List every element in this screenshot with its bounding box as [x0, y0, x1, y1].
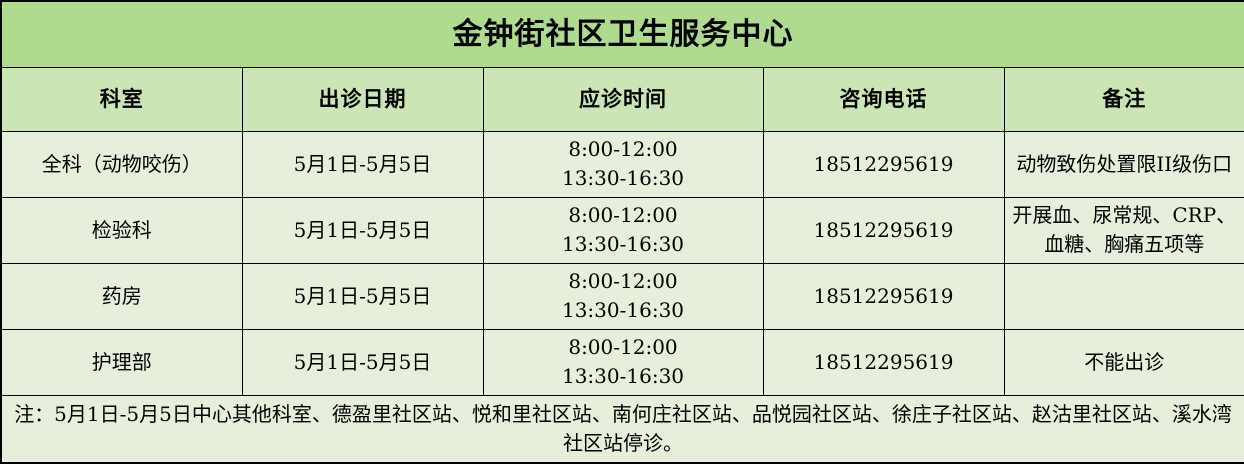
cell-time-afternoon: 13:30-16:30	[489, 230, 758, 259]
cell-time-afternoon: 13:30-16:30	[489, 362, 758, 391]
column-header-note: 备注	[1004, 67, 1244, 131]
clinic-schedule-table: 金钟街社区卫生服务中心 科室 出诊日期 应诊时间 咨询电话 备注	[0, 0, 1244, 464]
cell-phone: 18512295619	[763, 329, 1004, 395]
cell-time-afternoon: 13:30-16:30	[489, 164, 758, 193]
cell-time-morning: 8:00-12:00	[489, 201, 758, 230]
cell-time-afternoon: 13:30-16:30	[489, 296, 758, 325]
cell-time: 8:00-12:00 13:30-16:30	[483, 131, 763, 197]
cell-time-morning: 8:00-12:00	[489, 333, 758, 362]
cell-dept: 全科（动物咬伤）	[1, 131, 242, 197]
table-row: 护理部 5月1日-5月5日 8:00-12:00 13:30-16:30 185…	[1, 329, 1244, 395]
cell-date: 5月1日-5月5日	[242, 197, 483, 263]
cell-date: 5月1日-5月5日	[242, 131, 483, 197]
table-row: 检验科 5月1日-5月5日 8:00-12:00 13:30-16:30 185…	[1, 197, 1244, 263]
cell-time: 8:00-12:00 13:30-16:30	[483, 329, 763, 395]
column-header-dept: 科室	[1, 67, 242, 131]
cell-note: 动物致伤处置限II级伤口	[1004, 131, 1244, 197]
cell-note	[1004, 263, 1244, 329]
cell-time: 8:00-12:00 13:30-16:30	[483, 197, 763, 263]
cell-date: 5月1日-5月5日	[242, 263, 483, 329]
column-header-phone-label: 咨询电话	[840, 86, 928, 111]
cell-time-morning: 8:00-12:00	[489, 135, 758, 164]
cell-phone: 18512295619	[763, 197, 1004, 263]
cell-phone: 18512295619	[763, 263, 1004, 329]
table-header-row: 科室 出诊日期 应诊时间 咨询电话 备注	[1, 67, 1244, 131]
cell-date: 5月1日-5月5日	[242, 329, 483, 395]
cell-dept: 护理部	[1, 329, 242, 395]
column-header-time: 应诊时间	[483, 67, 763, 131]
table-row: 药房 5月1日-5月5日 8:00-12:00 13:30-16:30 1851…	[1, 263, 1244, 329]
cell-dept: 药房	[1, 263, 242, 329]
page-title: 金钟街社区卫生服务中心	[453, 17, 794, 52]
column-header-dept-label: 科室	[100, 86, 144, 111]
cell-note: 不能出诊	[1004, 329, 1244, 395]
cell-phone: 18512295619	[763, 131, 1004, 197]
cell-time: 8:00-12:00 13:30-16:30	[483, 263, 763, 329]
column-header-phone: 咨询电话	[763, 67, 1004, 131]
cell-note: 开展血、尿常规、CRP、血糖、胸痛五项等	[1004, 197, 1244, 263]
column-header-date: 出诊日期	[242, 67, 483, 131]
title-row: 金钟街社区卫生服务中心	[1, 1, 1244, 67]
cell-dept: 检验科	[1, 197, 242, 263]
schedule-sheet: 金钟街社区卫生服务中心 科室 出诊日期 应诊时间 咨询电话 备注	[0, 0, 1244, 463]
footer-note-row: 注：5月1日-5月5日中心其他科室、德盈里社区站、悦和里社区站、南何庄社区站、品…	[1, 395, 1244, 463]
table-row: 全科（动物咬伤） 5月1日-5月5日 8:00-12:00 13:30-16:3…	[1, 131, 1244, 197]
column-header-date-label: 出诊日期	[319, 86, 407, 111]
cell-time-morning: 8:00-12:00	[489, 267, 758, 296]
column-header-note-label: 备注	[1102, 86, 1146, 111]
footer-note: 注：5月1日-5月5日中心其他科室、德盈里社区站、悦和里社区站、南何庄社区站、品…	[1, 395, 1244, 463]
document-title-cell: 金钟街社区卫生服务中心	[1, 1, 1244, 67]
column-header-time-label: 应诊时间	[579, 86, 667, 111]
